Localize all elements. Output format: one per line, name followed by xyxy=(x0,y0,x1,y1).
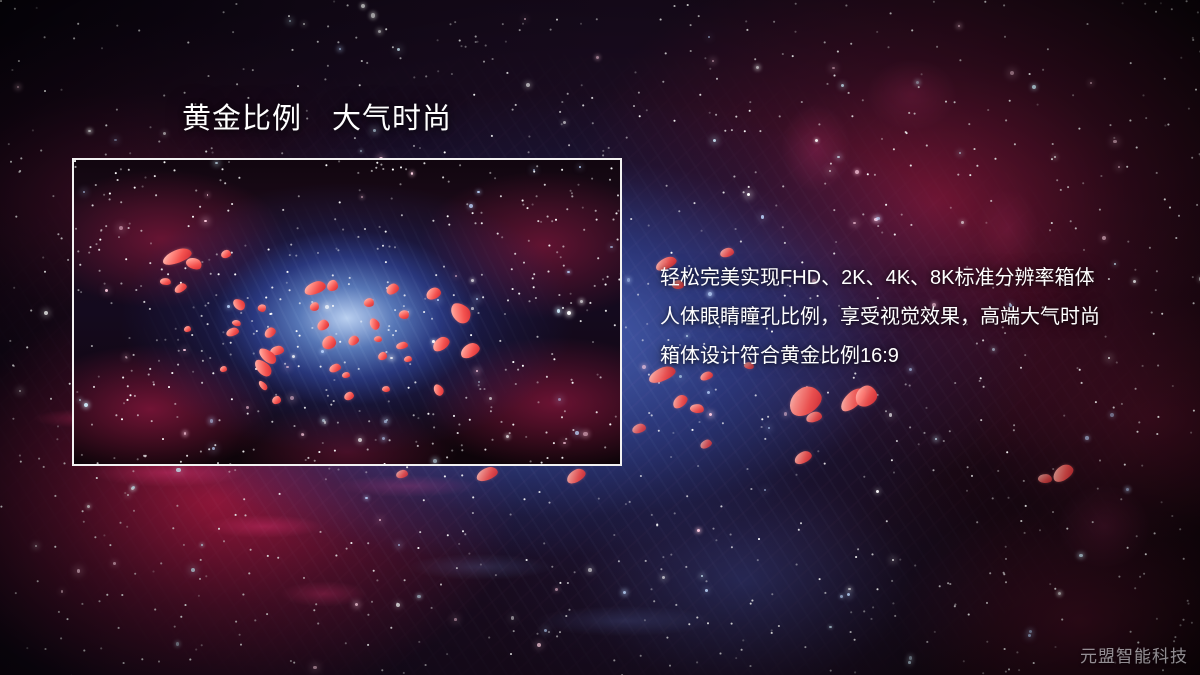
description-line-2: 人体眼睛瞳孔比例，享受视觉效果，高端大气时尚 xyxy=(660,298,1160,337)
framed-nebula-image xyxy=(72,158,622,466)
frame-nebula-wisps xyxy=(74,160,620,464)
page-title: 黄金比例 大气时尚 xyxy=(182,101,452,137)
feature-description-block: 轻松完美实现FHD、2K、4K、8K标准分辨率箱体 人体眼睛瞳孔比例，享受视觉效… xyxy=(660,259,1160,376)
presentation-slide: 黄金比例 大气时尚 轻松完美实现FHD、2K、4K、8K标准分辨率箱体 人体眼睛… xyxy=(0,0,1200,675)
description-line-3: 箱体设计符合黄金比例16:9 xyxy=(660,337,1160,376)
description-line-1: 轻松完美实现FHD、2K、4K、8K标准分辨率箱体 xyxy=(660,259,1160,298)
company-watermark: 元盟智能科技 xyxy=(1080,642,1188,667)
